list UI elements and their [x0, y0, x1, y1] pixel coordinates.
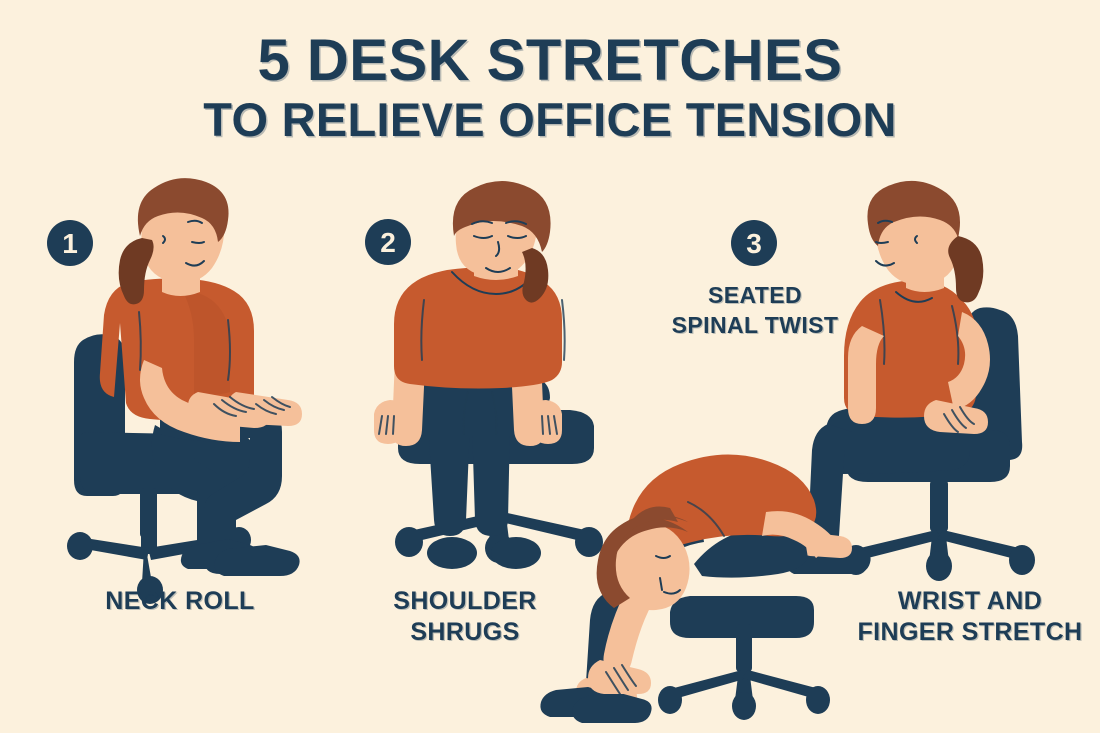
chair-column-3	[930, 480, 948, 532]
caption-wrist-line-2: FINGER STRETCH	[845, 617, 1095, 648]
chair-column-1	[140, 488, 157, 538]
caster-4a	[658, 686, 682, 714]
caption-shoulder-shrugs: SHOULDER SHRUGS	[345, 586, 585, 648]
caster-3b	[926, 551, 952, 581]
shoe-2b	[491, 537, 541, 569]
caption-neck-roll: NECK ROLL	[60, 586, 300, 617]
caption-neck-roll-line-1: NECK ROLL	[60, 586, 300, 617]
badge-number-3: 3	[746, 228, 762, 259]
caption-shoulder-shrugs-line-2: SHRUGS	[345, 617, 585, 648]
caption-wrist-and-finger-stretch: WRIST AND FINGER STRETCH	[845, 586, 1095, 648]
poster-title: 5 DESK STRETCHES TO RELIEVE OFFICE TENSI…	[0, 30, 1100, 148]
caster-2c	[575, 527, 603, 557]
caption-spinal-twist-line-2: SPINAL TWIST	[640, 310, 870, 340]
shoe-2a	[427, 537, 477, 569]
badge-number-1: 1	[62, 228, 78, 259]
hand-2a	[374, 400, 404, 444]
caster-2a	[395, 527, 423, 557]
hand-2b	[532, 400, 562, 444]
caption-wrist-line-1: WRIST AND	[845, 586, 1095, 617]
chair-column-4	[736, 624, 752, 672]
caption-spinal-twist-line-1: SEATED	[640, 280, 870, 310]
caster-3c	[1009, 545, 1035, 575]
caster-4c	[806, 686, 830, 714]
infographic-poster: .nv { fill: #1E3D56; } .nvd { fill: #173…	[0, 0, 1100, 733]
caster-4b	[732, 692, 756, 720]
title-line-2: TO RELIEVE OFFICE TENSION	[0, 92, 1100, 148]
caster-1a	[67, 532, 93, 560]
badge-number-2: 2	[380, 227, 396, 258]
title-line-1: 5 DESK STRETCHES	[0, 30, 1100, 92]
caption-seated-spinal-twist: SEATED SPINAL TWIST	[640, 280, 870, 340]
caption-shoulder-shrugs-line-1: SHOULDER	[345, 586, 585, 617]
